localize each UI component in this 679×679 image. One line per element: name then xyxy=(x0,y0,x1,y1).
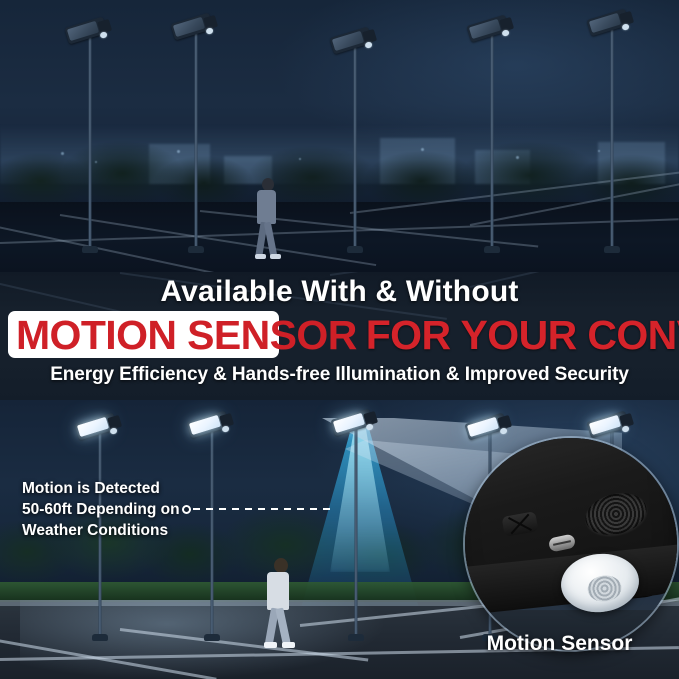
lamp-base xyxy=(484,246,500,253)
person-torso xyxy=(267,572,289,610)
lamp-pole xyxy=(355,420,358,638)
headline-line-2-wrapper: MOTION SENSOR FOR YOUR CONVENIENCE xyxy=(0,308,679,362)
motion-sensor-icon xyxy=(99,31,107,39)
headline-rest-text: FOR YOUR CONVENIENCE xyxy=(366,315,679,356)
lamp-base xyxy=(204,634,220,641)
headline-highlight-text: MOTION SENSOR xyxy=(16,315,357,356)
motion-sensor-icon xyxy=(109,427,117,435)
lamp-head xyxy=(170,13,213,41)
product-marketing-poster: Available With & Without MOTION SENSOR F… xyxy=(0,0,679,679)
lamp-base xyxy=(188,246,204,253)
motion-sensor-icon xyxy=(221,425,229,433)
led-panel xyxy=(77,417,109,437)
headline-line-1: Available With & Without xyxy=(0,275,679,309)
led-panel xyxy=(173,17,205,37)
scene-top-lights-off xyxy=(0,0,679,272)
lamp-head xyxy=(74,413,117,441)
lamp-pole xyxy=(491,26,494,250)
tree-light xyxy=(177,150,180,153)
headline-band: Available With & Without MOTION SENSOR F… xyxy=(0,272,679,400)
lamp-base xyxy=(604,246,620,253)
detection-range-callout: Motion is Detected 50-60ft Depending on … xyxy=(22,478,180,541)
lamp-pole xyxy=(611,20,614,250)
callout-leader-line xyxy=(182,508,336,511)
parking-lot-ground xyxy=(0,202,679,272)
motion-sensor-closeup-circle xyxy=(465,438,677,650)
leader-dashes xyxy=(193,508,336,510)
magnifier-caption: Motion Sensor xyxy=(440,632,679,656)
lamp-pole xyxy=(354,38,357,250)
person-leg xyxy=(275,608,290,645)
treeline xyxy=(0,114,679,210)
lamp-head xyxy=(64,17,107,45)
lamp-base xyxy=(348,634,364,641)
tree-light xyxy=(421,148,424,151)
callout-line-1: Motion is Detected xyxy=(22,478,180,499)
callout-line-2: 50-60ft Depending on xyxy=(22,499,180,520)
person-walking xyxy=(252,178,282,262)
person-leg xyxy=(264,222,277,257)
lamp-pole xyxy=(211,422,214,638)
lamp-base xyxy=(347,246,363,253)
led-panel xyxy=(189,415,221,435)
person-shoe xyxy=(255,254,266,259)
headline-subtitle: Energy Efficiency & Hands-free Illuminat… xyxy=(0,364,679,386)
headline-line-2: MOTION SENSOR FOR YOUR CONVENIENCE xyxy=(0,308,679,362)
person-torso xyxy=(257,190,276,224)
person-shoe xyxy=(282,642,295,648)
person-walking xyxy=(262,558,296,650)
lamp-base xyxy=(82,246,98,253)
led-panel xyxy=(67,21,99,41)
leader-dot-icon xyxy=(182,505,191,514)
lamp-pole xyxy=(89,28,92,250)
lamp-head xyxy=(186,411,229,439)
lamp-pole xyxy=(195,24,198,250)
callout-line-3: Weather Conditions xyxy=(22,520,180,541)
person-head xyxy=(274,558,288,573)
tree-light xyxy=(299,158,301,160)
pir-lens-icon xyxy=(586,574,623,603)
person-shoe xyxy=(270,254,281,259)
lamp-base xyxy=(92,634,108,641)
motion-sensor-icon xyxy=(205,27,213,35)
tree-light xyxy=(598,150,600,152)
person-shoe xyxy=(264,642,277,648)
